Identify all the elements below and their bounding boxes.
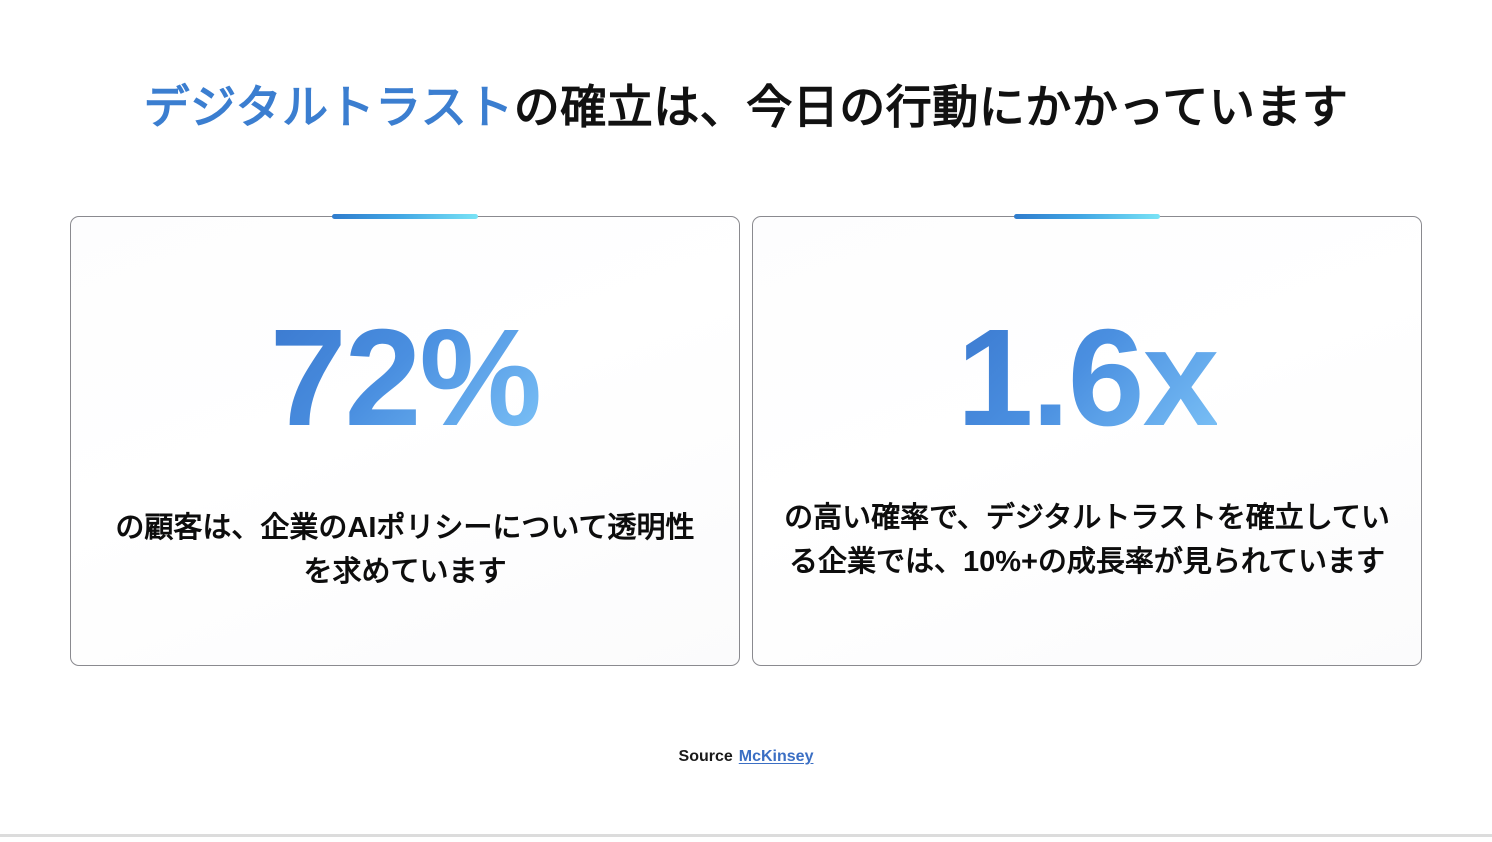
- stat-value-2: 1.6x: [957, 309, 1218, 447]
- card-1-accent-bar-icon: [332, 214, 478, 219]
- bottom-divider: [0, 834, 1492, 837]
- title-rest-text: の確立は、今日の行動にかかっています: [514, 81, 1349, 133]
- stat-description-1: の顧客は、企業のAIポリシーについて透明性を求めています: [115, 507, 695, 594]
- stat-value-1: 72%: [270, 309, 540, 447]
- card-2-accent-bar-icon: [1014, 214, 1160, 219]
- source-label: Source: [679, 748, 733, 765]
- stat-card-1: 72% の顧客は、企業のAIポリシーについて透明性を求めています: [70, 216, 740, 666]
- stat-card-1-wrapper: 72% の顧客は、企業のAIポリシーについて透明性を求めています: [70, 216, 740, 666]
- title-accent-text: デジタルトラスト: [144, 81, 514, 133]
- source-link-mckinsey[interactable]: McKinsey: [739, 748, 814, 765]
- stat-card-2-wrapper: 1.6x の高い確率で、デジタルトラストを確立している企業では、10%+の成長率…: [752, 216, 1422, 666]
- slide-canvas: デジタルトラストの確立は、今日の行動にかかっています 72% の顧客は、企業のA…: [0, 0, 1492, 842]
- source-footer: SourceMcKinsey: [0, 748, 1492, 766]
- page-title: デジタルトラストの確立は、今日の行動にかかっています: [70, 79, 1422, 135]
- stat-card-2: 1.6x の高い確率で、デジタルトラストを確立している企業では、10%+の成長率…: [752, 216, 1422, 666]
- stat-description-2: の高い確率で、デジタルトラストを確立している企業では、10%+の成長率が見られて…: [777, 497, 1397, 584]
- stat-cards-row: 72% の顧客は、企業のAIポリシーについて透明性を求めています 1.6x の高…: [70, 216, 1422, 666]
